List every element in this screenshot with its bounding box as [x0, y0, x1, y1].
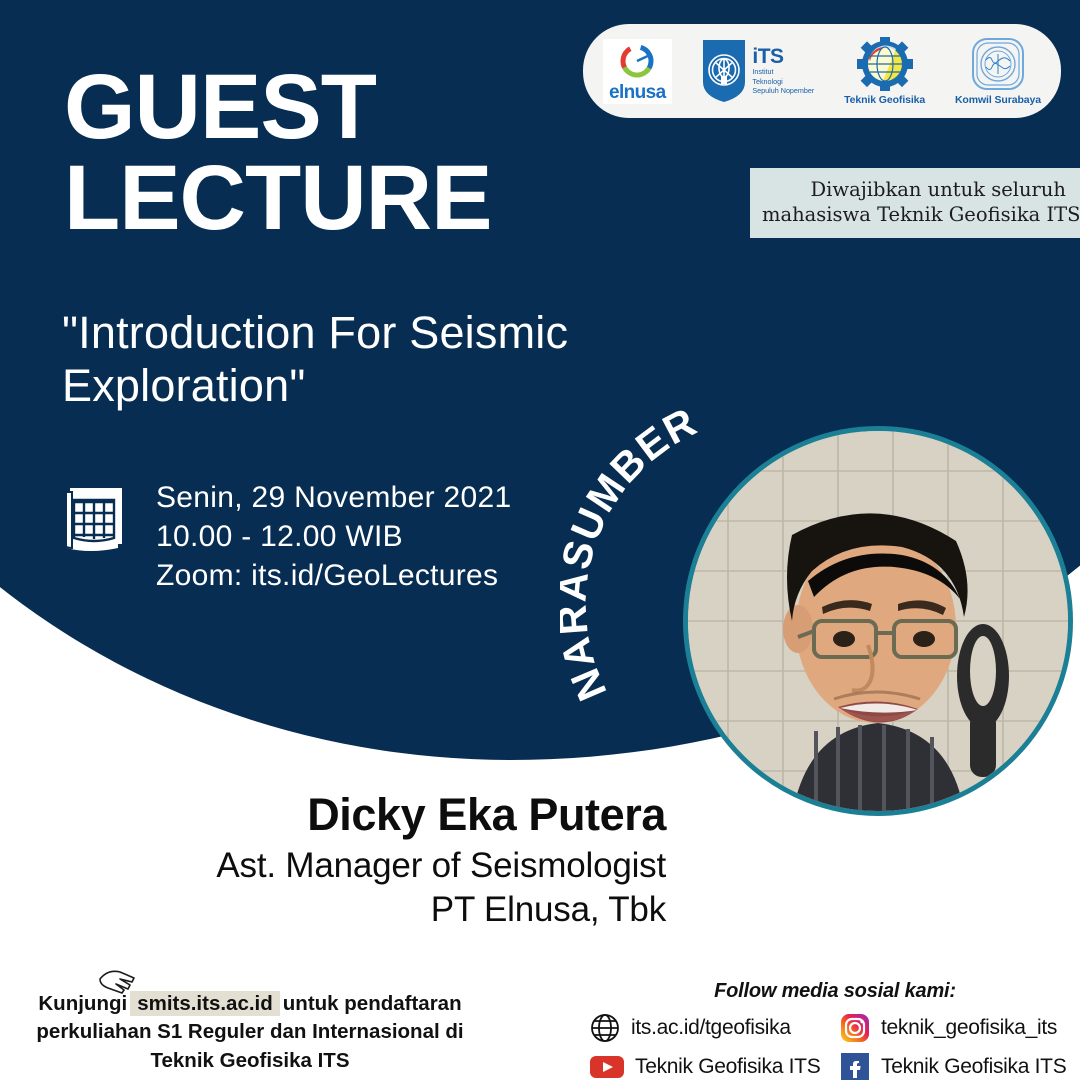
- its-wordmark: iTS: [752, 46, 814, 67]
- speaker-role: Ast. Manager of Seismologist: [0, 844, 666, 888]
- facebook-icon: [840, 1052, 870, 1080]
- footer-after-text: untuk pendaftaran: [283, 992, 462, 1015]
- page-title: GUEST LECTURE: [64, 62, 491, 244]
- its-sub1: Institut: [752, 68, 814, 76]
- elnusa-wordmark: elnusa: [609, 83, 666, 102]
- instagram-label: teknik_geofisika_its: [881, 1016, 1057, 1040]
- teknik-geofisika-caption: Teknik Geofisika: [844, 94, 925, 106]
- event-zoom-link[interactable]: Zoom: its.id/GeoLectures: [156, 556, 511, 595]
- social-item-facebook[interactable]: Teknik Geofisika ITS: [840, 1052, 1080, 1080]
- speaker-info: Dicky Eka Putera Ast. Manager of Seismol…: [0, 790, 666, 932]
- title-line-2: LECTURE: [64, 153, 491, 244]
- pointing-hand-icon: [96, 965, 138, 1006]
- speaker-name: Dicky Eka Putera: [0, 790, 666, 840]
- its-shield-icon: [701, 38, 747, 104]
- youtube-label: Teknik Geofisika ITS: [635, 1055, 820, 1079]
- event-text-block: Senin, 29 November 2021 10.00 - 12.00 WI…: [156, 478, 511, 595]
- sponsor-logo-bar: elnusa iTS Institut Te: [583, 24, 1061, 118]
- elnusa-logo: elnusa: [603, 39, 672, 104]
- social-footer: Follow media sosial kami: its.ac.id/tgeo…: [590, 980, 1080, 1080]
- social-item-website[interactable]: its.ac.id/tgeofisika: [590, 1013, 840, 1043]
- website-label: its.ac.id/tgeofisika: [631, 1016, 791, 1040]
- event-details: Senin, 29 November 2021 10.00 - 12.00 WI…: [60, 478, 511, 595]
- narasumber-text: NARASUMBER: [560, 398, 704, 707]
- komwil-surabaya-logo: Komwil Surabaya: [955, 36, 1041, 106]
- notice-banner: Diwajibkan untuk seluruh mahasiswa Tekni…: [750, 168, 1080, 238]
- teknik-geofisika-logo: Teknik Geofisika: [844, 36, 925, 106]
- calendar-icon: [60, 482, 130, 563]
- event-time: 10.00 - 12.00 WIB: [156, 517, 511, 556]
- instagram-icon: [840, 1013, 870, 1043]
- youtube-icon: [590, 1054, 624, 1080]
- its-logo: iTS Institut Teknologi Sepuluh Nopember: [701, 38, 814, 104]
- registration-footer: Kunjungismits.its.ac.iduntuk pendaftaran…: [0, 990, 500, 1075]
- speaker-org: PT Elnusa, Tbk: [0, 888, 666, 932]
- globe-icon: [590, 1013, 620, 1043]
- smits-url-chip[interactable]: smits.its.ac.id: [130, 991, 280, 1016]
- its-sub2: Teknologi: [752, 78, 814, 86]
- facebook-label: Teknik Geofisika ITS: [881, 1055, 1066, 1079]
- footer-line-2: perkuliahan S1 Reguler dan Internasional…: [0, 1018, 500, 1046]
- title-line-1: GUEST: [64, 62, 491, 153]
- elnusa-mark: [615, 42, 659, 82]
- its-sub3: Sepuluh Nopember: [752, 87, 814, 95]
- social-item-youtube[interactable]: Teknik Geofisika ITS: [590, 1052, 840, 1080]
- notice-line-1: Diwajibkan untuk seluruh: [762, 177, 1066, 202]
- social-item-instagram[interactable]: teknik_geofisika_its: [840, 1013, 1080, 1043]
- footer-line-3: Teknik Geofisika ITS: [0, 1047, 500, 1075]
- event-date: Senin, 29 November 2021: [156, 478, 511, 517]
- notice-line-2: mahasiswa Teknik Geofisika ITS: [762, 202, 1066, 227]
- komwil-surabaya-caption: Komwil Surabaya: [955, 94, 1041, 106]
- follow-title: Follow media sosial kami:: [590, 980, 1080, 1003]
- geofisika-gear-globe-icon: [856, 36, 914, 92]
- narasumber-arc-label: NARASUMBER: [560, 380, 920, 740]
- poster-canvas: elnusa iTS Institut Te: [0, 0, 1080, 1080]
- hagi-emblem-icon: [970, 36, 1026, 92]
